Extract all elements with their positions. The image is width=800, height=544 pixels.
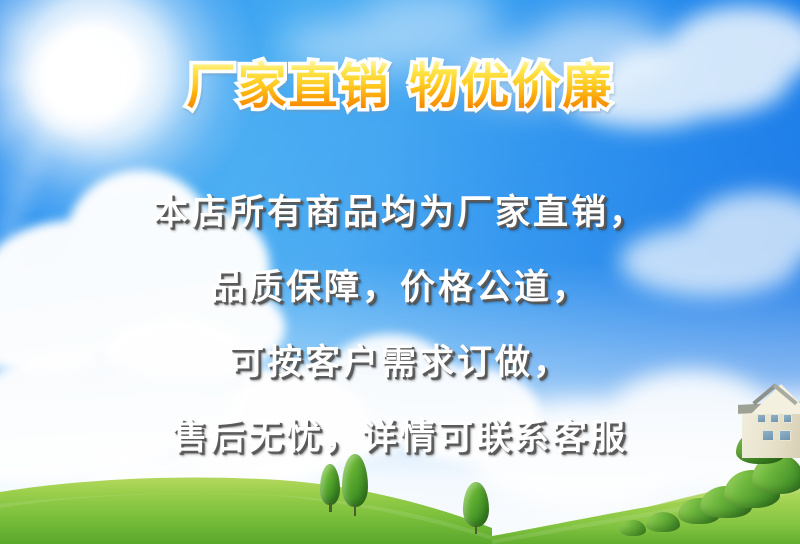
body-line-3: 可按客户需求订做， bbox=[0, 326, 800, 401]
body-line-2: 品质保障，价格公道， bbox=[0, 251, 800, 326]
bush bbox=[620, 520, 646, 536]
promo-banner: 厂家直销 物优价廉 厂家直销 物优价廉 本店所有商品均为厂家直销， 品质保障，价… bbox=[0, 0, 800, 544]
body-copy: 本店所有商品均为厂家直销， 品质保障，价格公道， 可按客户需求订做， 售后无忧，… bbox=[0, 176, 800, 476]
tree-icon bbox=[463, 482, 489, 534]
bush bbox=[646, 512, 680, 532]
headline-text: 厂家直销 物优价廉 bbox=[0, 58, 800, 116]
headline: 厂家直销 物优价廉 厂家直销 物优价廉 bbox=[0, 58, 800, 116]
body-line-4: 售后无忧，详情可联系客服 bbox=[0, 401, 800, 476]
body-line-1: 本店所有商品均为厂家直销， bbox=[0, 176, 800, 251]
